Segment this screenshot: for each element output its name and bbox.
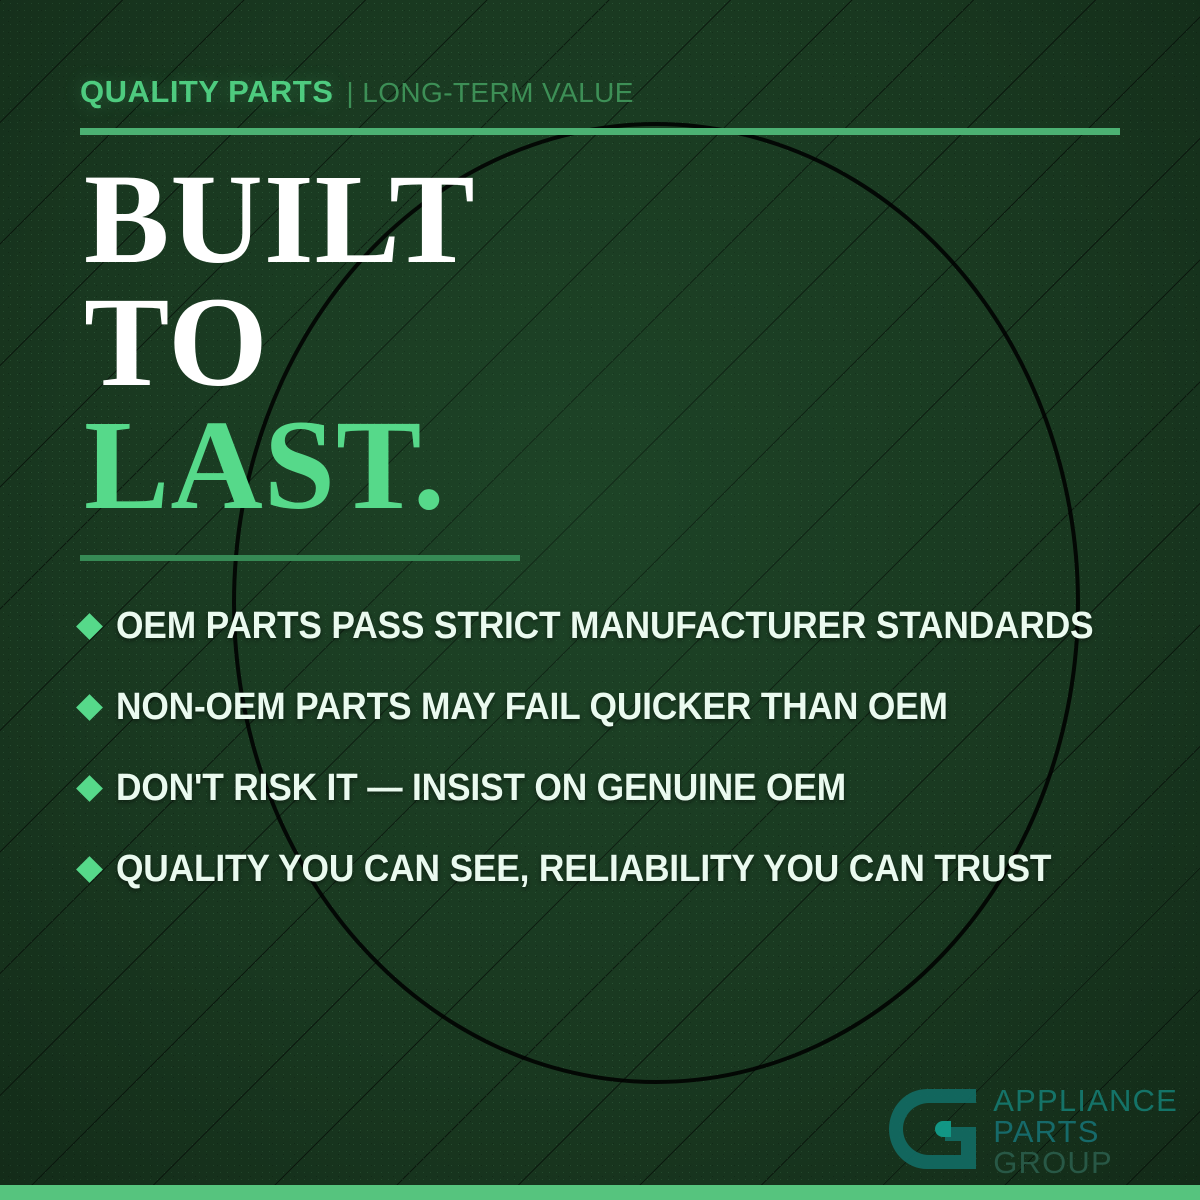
diamond-bullet-icon	[76, 694, 103, 721]
eyebrow-main-label: QUALITY PARTS	[80, 74, 333, 110]
eyebrow-sub-text: LONG-TERM VALUE	[362, 77, 634, 108]
appliance-parts-group-g-logo-icon	[883, 1083, 981, 1180]
eyebrow-sub-label: | LONG-TERM VALUE	[346, 77, 633, 109]
list-item: QUALITY YOU CAN SEE, RELIABILITY YOU CAN…	[80, 829, 1150, 910]
benefits-list: OEM PARTS PASS STRICT MANUFACTURER STAND…	[80, 586, 1150, 910]
diamond-bullet-icon	[76, 775, 103, 802]
header-eyebrow: QUALITY PARTS | LONG-TERM VALUE	[80, 74, 634, 110]
headline-line-2: TO	[84, 281, 476, 404]
list-item-label: DON'T RISK IT — INSIST ON GENUINE OEM	[116, 767, 846, 810]
brand-line-1: APPLIANCE	[993, 1085, 1178, 1116]
brand-wordmark: APPLIANCE PARTS GROUP	[993, 1085, 1178, 1178]
brand-logo: APPLIANCE PARTS GROUP	[883, 1083, 1178, 1180]
promo-poster: QUALITY PARTS | LONG-TERM VALUE BUILT TO…	[0, 0, 1200, 1200]
list-item-label: OEM PARTS PASS STRICT MANUFACTURER STAND…	[116, 605, 1093, 648]
headline-divider-rule	[80, 555, 520, 561]
list-item: DON'T RISK IT — INSIST ON GENUINE OEM	[80, 748, 1150, 829]
diamond-bullet-icon	[76, 856, 103, 883]
diamond-bullet-icon	[76, 613, 103, 640]
list-item-label: QUALITY YOU CAN SEE, RELIABILITY YOU CAN…	[116, 848, 1051, 891]
page-title: BUILT TO LAST.	[84, 158, 476, 527]
headline-line-1: BUILT	[84, 158, 476, 281]
list-item: OEM PARTS PASS STRICT MANUFACTURER STAND…	[80, 586, 1150, 667]
brand-line-2: PARTS	[993, 1116, 1178, 1147]
eyebrow-separator: |	[346, 77, 354, 108]
list-item-label: NON-OEM PARTS MAY FAIL QUICKER THAN OEM	[116, 686, 948, 729]
bottom-accent-bar	[0, 1185, 1200, 1200]
headline-line-3: LAST.	[84, 404, 476, 527]
list-item: NON-OEM PARTS MAY FAIL QUICKER THAN OEM	[80, 667, 1150, 748]
header-divider-rule	[80, 128, 1120, 135]
brand-line-3: GROUP	[993, 1147, 1178, 1178]
